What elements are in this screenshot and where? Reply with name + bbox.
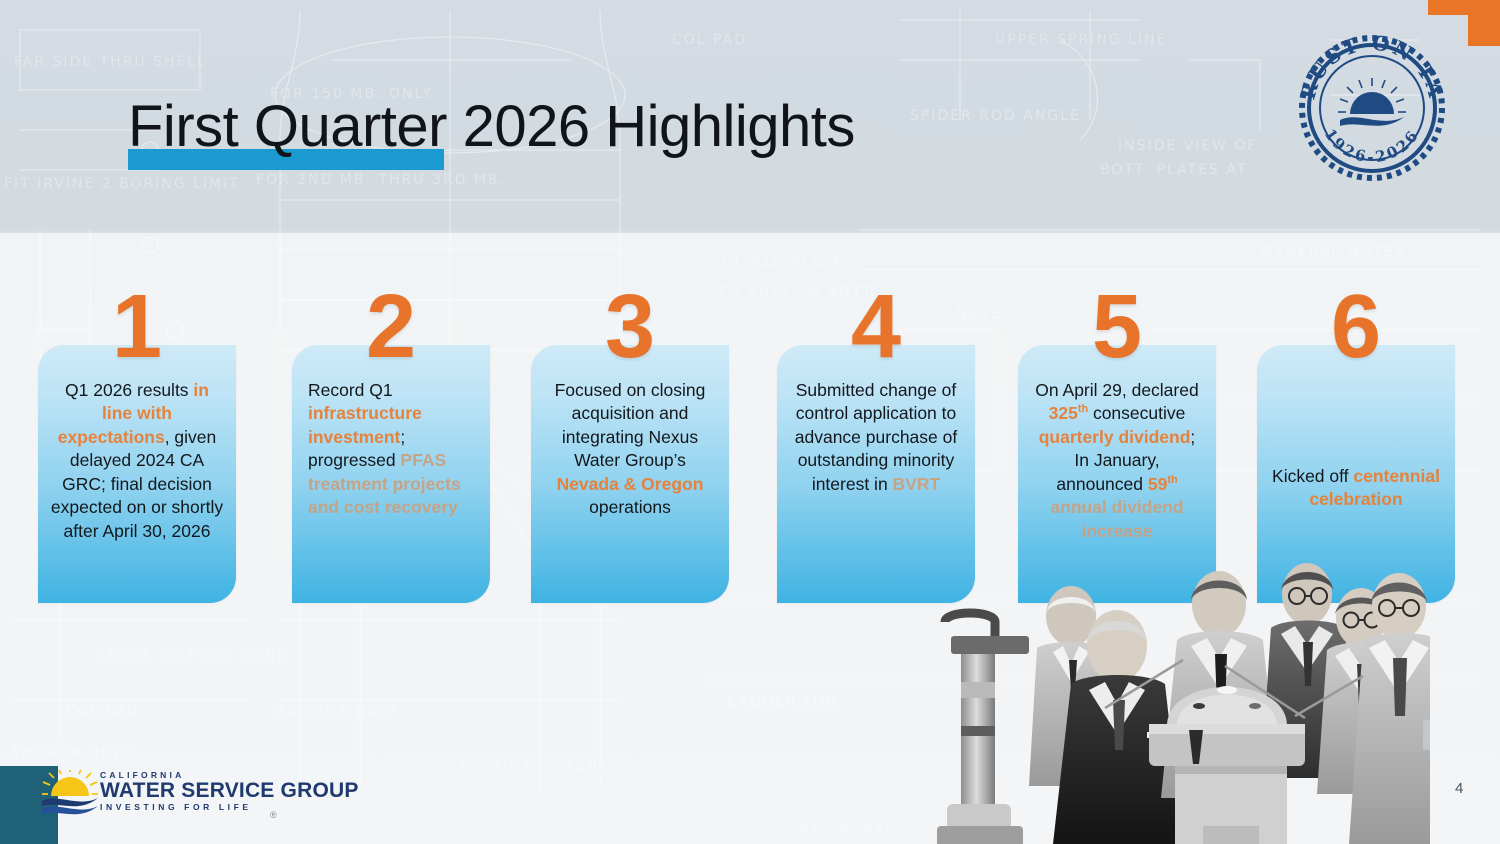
svg-text:COL PAD: COL PAD	[672, 32, 747, 48]
card-text-4: Submitted change of control application …	[789, 379, 963, 496]
logo-text-group: CALIFORNIA WATER SERVICE GROUP INVESTING…	[100, 770, 300, 812]
highlight-card-2[interactable]: 2 Record Q1 infrastructure investment; p…	[292, 345, 490, 603]
card-text-6: Kicked off centennial celebration	[1269, 465, 1443, 512]
svg-text:SPIDER ROD ANGLE: SPIDER ROD ANGLE	[910, 108, 1081, 124]
card-number-1: 1	[38, 282, 236, 372]
title-wrapper: First Quarter 2026 Highlights	[128, 98, 855, 156]
card-number-2: 2	[292, 282, 490, 372]
highlight-card-3[interactable]: 3 Focused on closing acquisition and int…	[531, 345, 729, 603]
card-text-3: Focused on closing acquisition and integ…	[543, 379, 717, 520]
card-number-3: 3	[531, 282, 729, 372]
card-text-5: On April 29, declared 325th consecutive …	[1030, 379, 1204, 543]
page-number: 4	[1455, 780, 1463, 797]
svg-text:BOTT. PLATES AT: BOTT. PLATES AT	[1100, 162, 1247, 178]
svg-text:FIT IRVINE 2 BORING LIMIT: FIT IRVINE 2 BORING LIMIT	[4, 176, 240, 192]
svg-text:POST LADDER: POST LADDER	[776, 820, 897, 836]
card-text-2: Record Q1 infrastructure investment; pro…	[308, 379, 480, 520]
highlight-card-1[interactable]: 1 Q1 2026 results in line with expectati…	[38, 345, 236, 603]
svg-text:FAR SIDE THRU SHELL: FAR SIDE THRU SHELL	[14, 54, 207, 70]
logo-line-company: WATER SERVICE GROUP	[100, 780, 300, 802]
card-text-1: Q1 2026 results in line with expectation…	[50, 379, 224, 543]
page-title: First Quarter 2026 Highlights	[128, 98, 855, 156]
svg-text:FOR 2ND MB. THRU 3RD MB.: FOR 2ND MB. THRU 3RD MB.	[256, 172, 506, 188]
card-number-4: 4	[777, 282, 975, 372]
svg-text:GENERAL NOTES: GENERAL NOTES	[1262, 244, 1406, 260]
trust-on-tap-seal-icon: TRUST ON TAP 1926-2026	[1292, 28, 1452, 188]
card-number-6: 6	[1257, 282, 1455, 372]
svg-text:COLUMN: COLUMN	[66, 704, 139, 720]
svg-text:ANCHOR BOLT: ANCHOR BOLT	[10, 746, 132, 762]
registered-trademark-mark: ®	[270, 810, 277, 820]
svg-text:COL PAD PLATE: COL PAD PLATE	[710, 256, 844, 272]
svg-text:INSIDE VIEW OF: INSIDE VIEW OF	[1118, 138, 1258, 154]
svg-text:STRUT TO POST CONN.: STRUT TO POST CONN.	[96, 648, 296, 664]
svg-text:UPPER SPRING LINE: UPPER SPRING LINE	[995, 32, 1167, 48]
card-number-5: 5	[1018, 282, 1216, 372]
corner-accent-tab	[1468, 0, 1500, 46]
svg-text:TRUST ON TAP: TRUST ON TAP	[1292, 28, 1448, 102]
slide-canvas: COL PAD UPPER SPRING LINE SPIDER ROD ANG…	[0, 0, 1500, 844]
svg-text:LADDER LUG: LADDER LUG	[728, 694, 838, 710]
svg-text:ELEVATION of TANK: ELEVATION of TANK	[440, 760, 610, 776]
vintage-executives-photograph	[925, 548, 1430, 844]
svg-text:ANCHOR BOLT: ANCHOR BOLT	[276, 704, 398, 720]
